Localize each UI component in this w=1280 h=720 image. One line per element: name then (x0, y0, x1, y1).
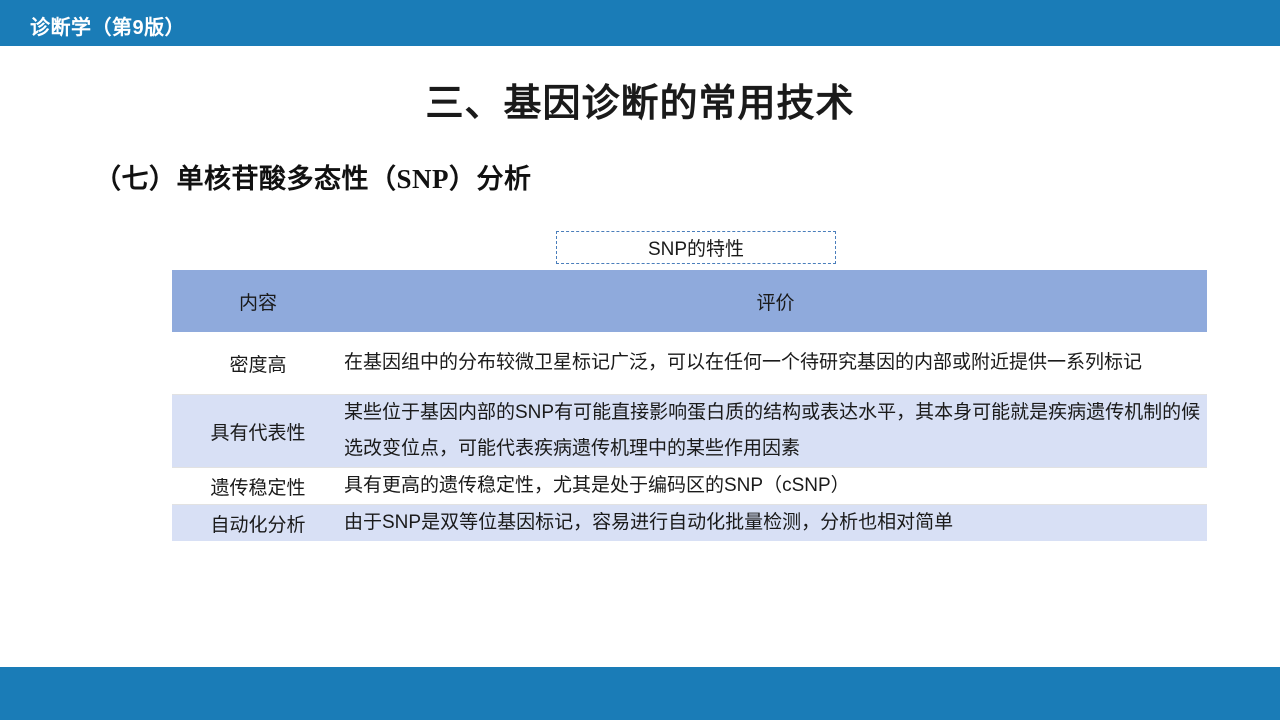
section-subtitle: （七）单核苷酸多态性（SNP）分析 (94, 157, 532, 196)
row-description: 由于SNP是双等位基因标记，容易进行自动化批量检测，分析也相对简单 (344, 505, 1207, 541)
top-banner: 诊断学（第9版） (0, 0, 1280, 46)
row-name: 自动化分析 (172, 505, 344, 541)
table-row: 自动化分析 由于SNP是双等位基因标记，容易进行自动化批量检测，分析也相对简单 (172, 505, 1207, 541)
row-name: 遗传稳定性 (172, 468, 344, 504)
row-name: 密度高 (172, 332, 344, 394)
table-row: 密度高 在基因组中的分布较微卫星标记广泛，可以在任何一个待研究基因的内部或附近提… (172, 332, 1207, 394)
table-row: 遗传稳定性 具有更高的遗传稳定性，尤其是处于编码区的SNP（cSNP） (172, 468, 1207, 504)
snp-characteristics-table: 内容 评价 密度高 在基因组中的分布较微卫星标记广泛，可以在任何一个待研究基因的… (172, 270, 1207, 541)
section-subtitle-acronym: SNP (397, 164, 450, 194)
row-description: 具有更高的遗传稳定性，尤其是处于编码区的SNP（cSNP） (344, 468, 1207, 504)
row-description: 某些位于基因内部的SNP有可能直接影响蛋白质的结构或表达水平，其本身可能就是疾病… (344, 395, 1207, 467)
column-header-evaluation: 评价 (344, 270, 1207, 332)
table-caption-box: SNP的特性 (556, 231, 836, 264)
table-caption-label: SNP的特性 (648, 234, 744, 261)
row-description: 在基因组中的分布较微卫星标记广泛，可以在任何一个待研究基因的内部或附近提供一系列… (344, 332, 1207, 394)
bottom-banner (0, 667, 1280, 720)
page-title: 三、基因诊断的常用技术 (0, 72, 1280, 127)
column-header-content: 内容 (172, 270, 344, 332)
table-header-row: 内容 评价 (172, 270, 1207, 332)
table-body: 密度高 在基因组中的分布较微卫星标记广泛，可以在任何一个待研究基因的内部或附近提… (172, 332, 1207, 541)
table-header: 内容 评价 (172, 270, 1207, 332)
row-name: 具有代表性 (172, 395, 344, 467)
table-row: 具有代表性 某些位于基因内部的SNP有可能直接影响蛋白质的结构或表达水平，其本身… (172, 395, 1207, 467)
section-subtitle-prefix: （七）单核苷酸多态性（ (94, 164, 397, 194)
book-title: 诊断学（第9版） (30, 11, 185, 40)
section-subtitle-suffix: ）分析 (449, 164, 532, 194)
